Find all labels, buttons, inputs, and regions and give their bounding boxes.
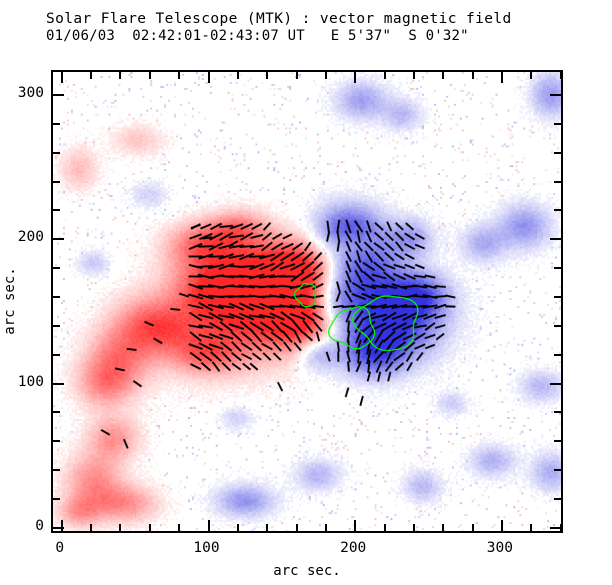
y-tick [53, 181, 60, 183]
x-tick [237, 524, 239, 531]
y-tick [53, 354, 60, 356]
x-tick [530, 72, 532, 79]
y-tick [554, 209, 561, 211]
x-tick [472, 72, 474, 79]
y-tick [554, 181, 561, 183]
x-tick [354, 72, 356, 83]
x-tick [178, 524, 180, 531]
x-tick [90, 72, 92, 79]
x-tick [560, 72, 562, 79]
x-tick [266, 524, 268, 531]
figure-title-line-1: Solar Flare Telescope (MTK) : vector mag… [46, 11, 586, 28]
y-tick [554, 325, 561, 327]
x-tick [61, 72, 63, 83]
y-tick [53, 296, 60, 298]
x-tick-label: 200 [340, 540, 366, 556]
x-tick [119, 524, 121, 531]
y-tick [53, 411, 60, 413]
x-tick [61, 520, 63, 531]
x-tick [442, 72, 444, 79]
y-tick [53, 325, 60, 327]
y-tick-label: 200 [18, 229, 44, 245]
x-tick [325, 72, 327, 79]
y-tick [554, 469, 561, 471]
y-tick [550, 238, 561, 240]
x-tick [90, 524, 92, 531]
x-axis-title: arc sec. [273, 563, 340, 579]
magnetogram-image [53, 72, 561, 531]
figure-title-line-2: 01/06/03 02:42:01-02:43:07 UT E 5'37" S … [46, 28, 586, 45]
x-tick [149, 72, 151, 79]
y-tick [53, 152, 60, 154]
y-tick [53, 123, 60, 125]
x-tick [208, 520, 210, 531]
y-tick [554, 296, 561, 298]
plot-frame [51, 70, 563, 533]
x-tick [501, 72, 503, 83]
x-tick-label: 0 [55, 540, 64, 556]
y-tick [554, 152, 561, 154]
x-tick [384, 72, 386, 79]
y-tick [550, 527, 561, 529]
x-tick [237, 72, 239, 79]
x-tick [413, 72, 415, 79]
x-tick [119, 72, 121, 79]
x-tick [413, 524, 415, 531]
y-tick [53, 94, 64, 96]
x-tick [442, 524, 444, 531]
y-tick [53, 383, 64, 385]
x-tick [354, 520, 356, 531]
magnetogram-figure: Solar Flare Telescope (MTK) : vector mag… [0, 0, 612, 585]
x-tick [149, 524, 151, 531]
y-tick [554, 440, 561, 442]
y-tick [550, 383, 561, 385]
x-tick [266, 72, 268, 79]
x-tick [325, 524, 327, 531]
x-tick [296, 524, 298, 531]
x-tick [384, 524, 386, 531]
x-tick [530, 524, 532, 531]
y-tick-label: 100 [18, 374, 44, 390]
x-tick-label: 100 [193, 540, 219, 556]
x-tick-label: 300 [487, 540, 513, 556]
y-tick [53, 209, 60, 211]
y-tick [53, 267, 60, 269]
x-tick [178, 72, 180, 79]
y-tick [53, 469, 60, 471]
y-tick-label: 0 [35, 518, 44, 534]
y-axis-title: arc sec. [2, 267, 18, 334]
y-tick [554, 267, 561, 269]
figure-title-block: Solar Flare Telescope (MTK) : vector mag… [46, 11, 586, 45]
y-tick [550, 94, 561, 96]
y-tick-label: 300 [18, 85, 44, 101]
y-tick [554, 354, 561, 356]
x-tick [472, 524, 474, 531]
x-tick [296, 72, 298, 79]
y-tick [554, 411, 561, 413]
y-tick [53, 527, 64, 529]
x-tick [501, 520, 503, 531]
y-tick [554, 498, 561, 500]
y-tick [53, 498, 60, 500]
x-tick [208, 72, 210, 83]
y-tick [554, 123, 561, 125]
y-tick [53, 238, 64, 240]
y-tick [53, 440, 60, 442]
